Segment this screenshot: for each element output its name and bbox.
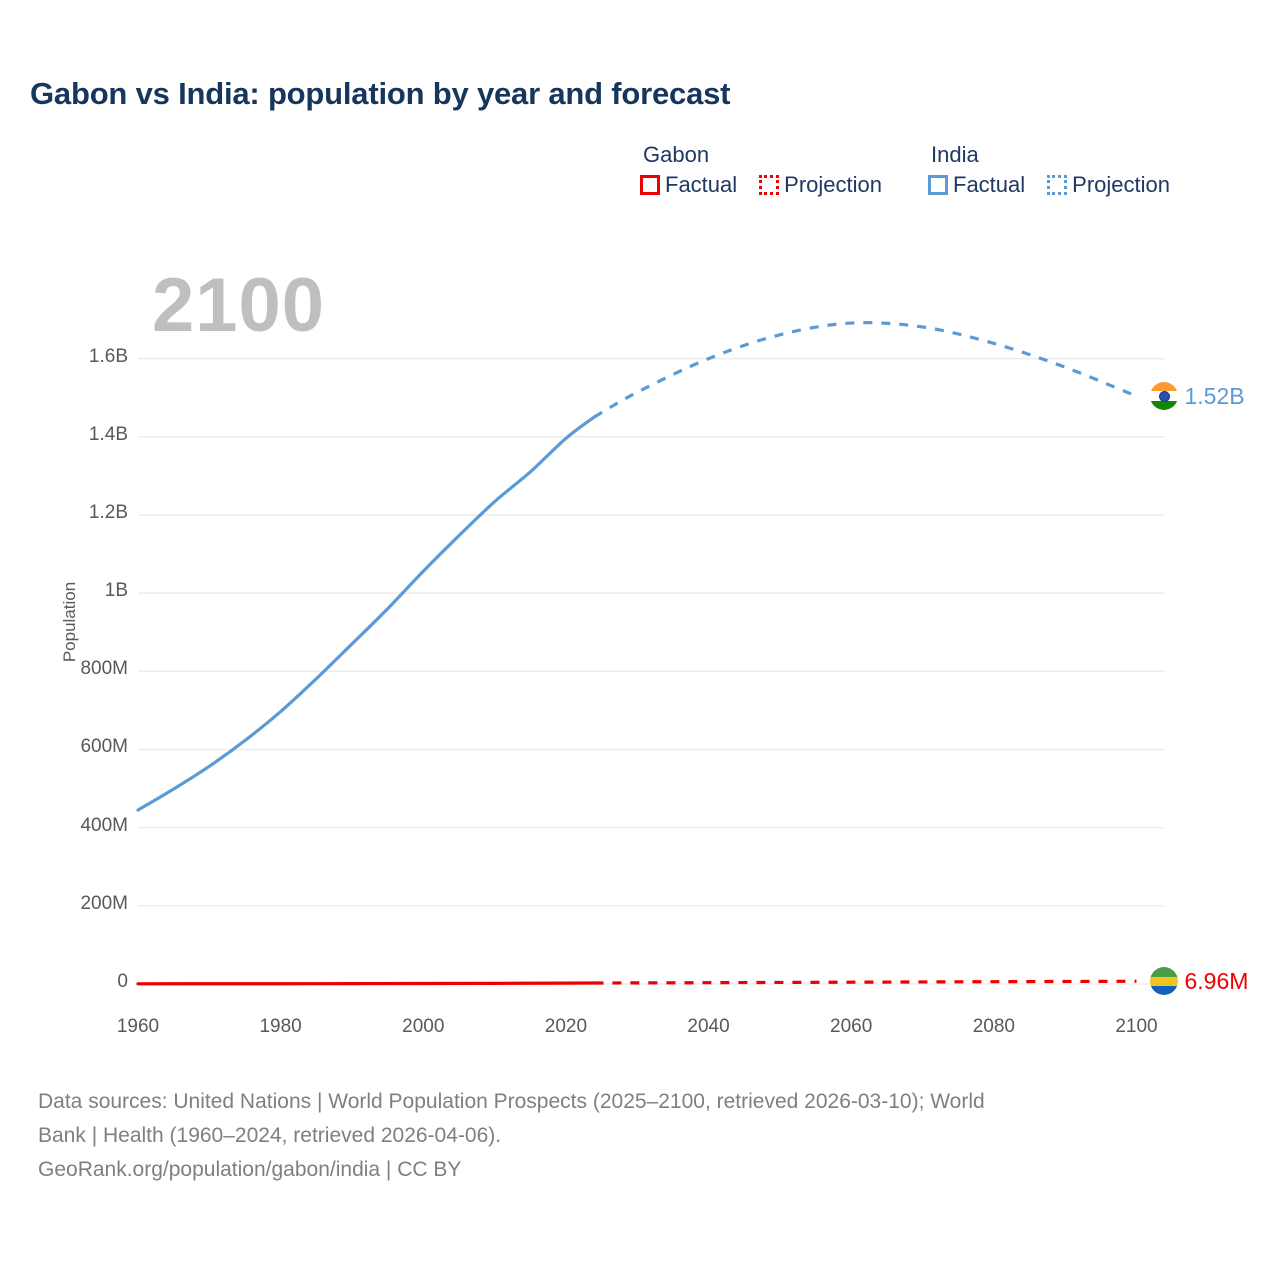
- chart-page: Gabon vs India: population by year and f…: [0, 0, 1280, 1280]
- footer-line-1: Data sources: United Nations | World Pop…: [38, 1086, 1238, 1118]
- end-label-india: 1.52B: [1150, 382, 1244, 410]
- x-tick-label: 2000: [402, 1016, 444, 1038]
- footer-line-3[interactable]: GeoRank.org/population/gabon/india | CC …: [38, 1154, 1238, 1186]
- end-label-gabon: 6.96M: [1150, 967, 1248, 995]
- x-tick-label: 2100: [1115, 1016, 1157, 1038]
- x-tick-label: 2020: [545, 1016, 587, 1038]
- end-value-india: 1.52B: [1184, 383, 1244, 410]
- end-value-gabon: 6.96M: [1184, 968, 1248, 995]
- gabon-flag-icon: [1150, 967, 1178, 995]
- x-tick-label: 2040: [687, 1016, 729, 1038]
- footer-line-2: Bank | Health (1960–2024, retrieved 2026…: [38, 1120, 1238, 1152]
- footer-sources: Data sources: United Nations | World Pop…: [38, 1086, 1238, 1186]
- india-flag-icon: [1150, 382, 1178, 410]
- x-tick-label: 2080: [973, 1016, 1015, 1038]
- x-tick-label: 2060: [830, 1016, 872, 1038]
- x-tick-label: 1980: [259, 1016, 301, 1038]
- x-tick-label: 1960: [117, 1016, 159, 1038]
